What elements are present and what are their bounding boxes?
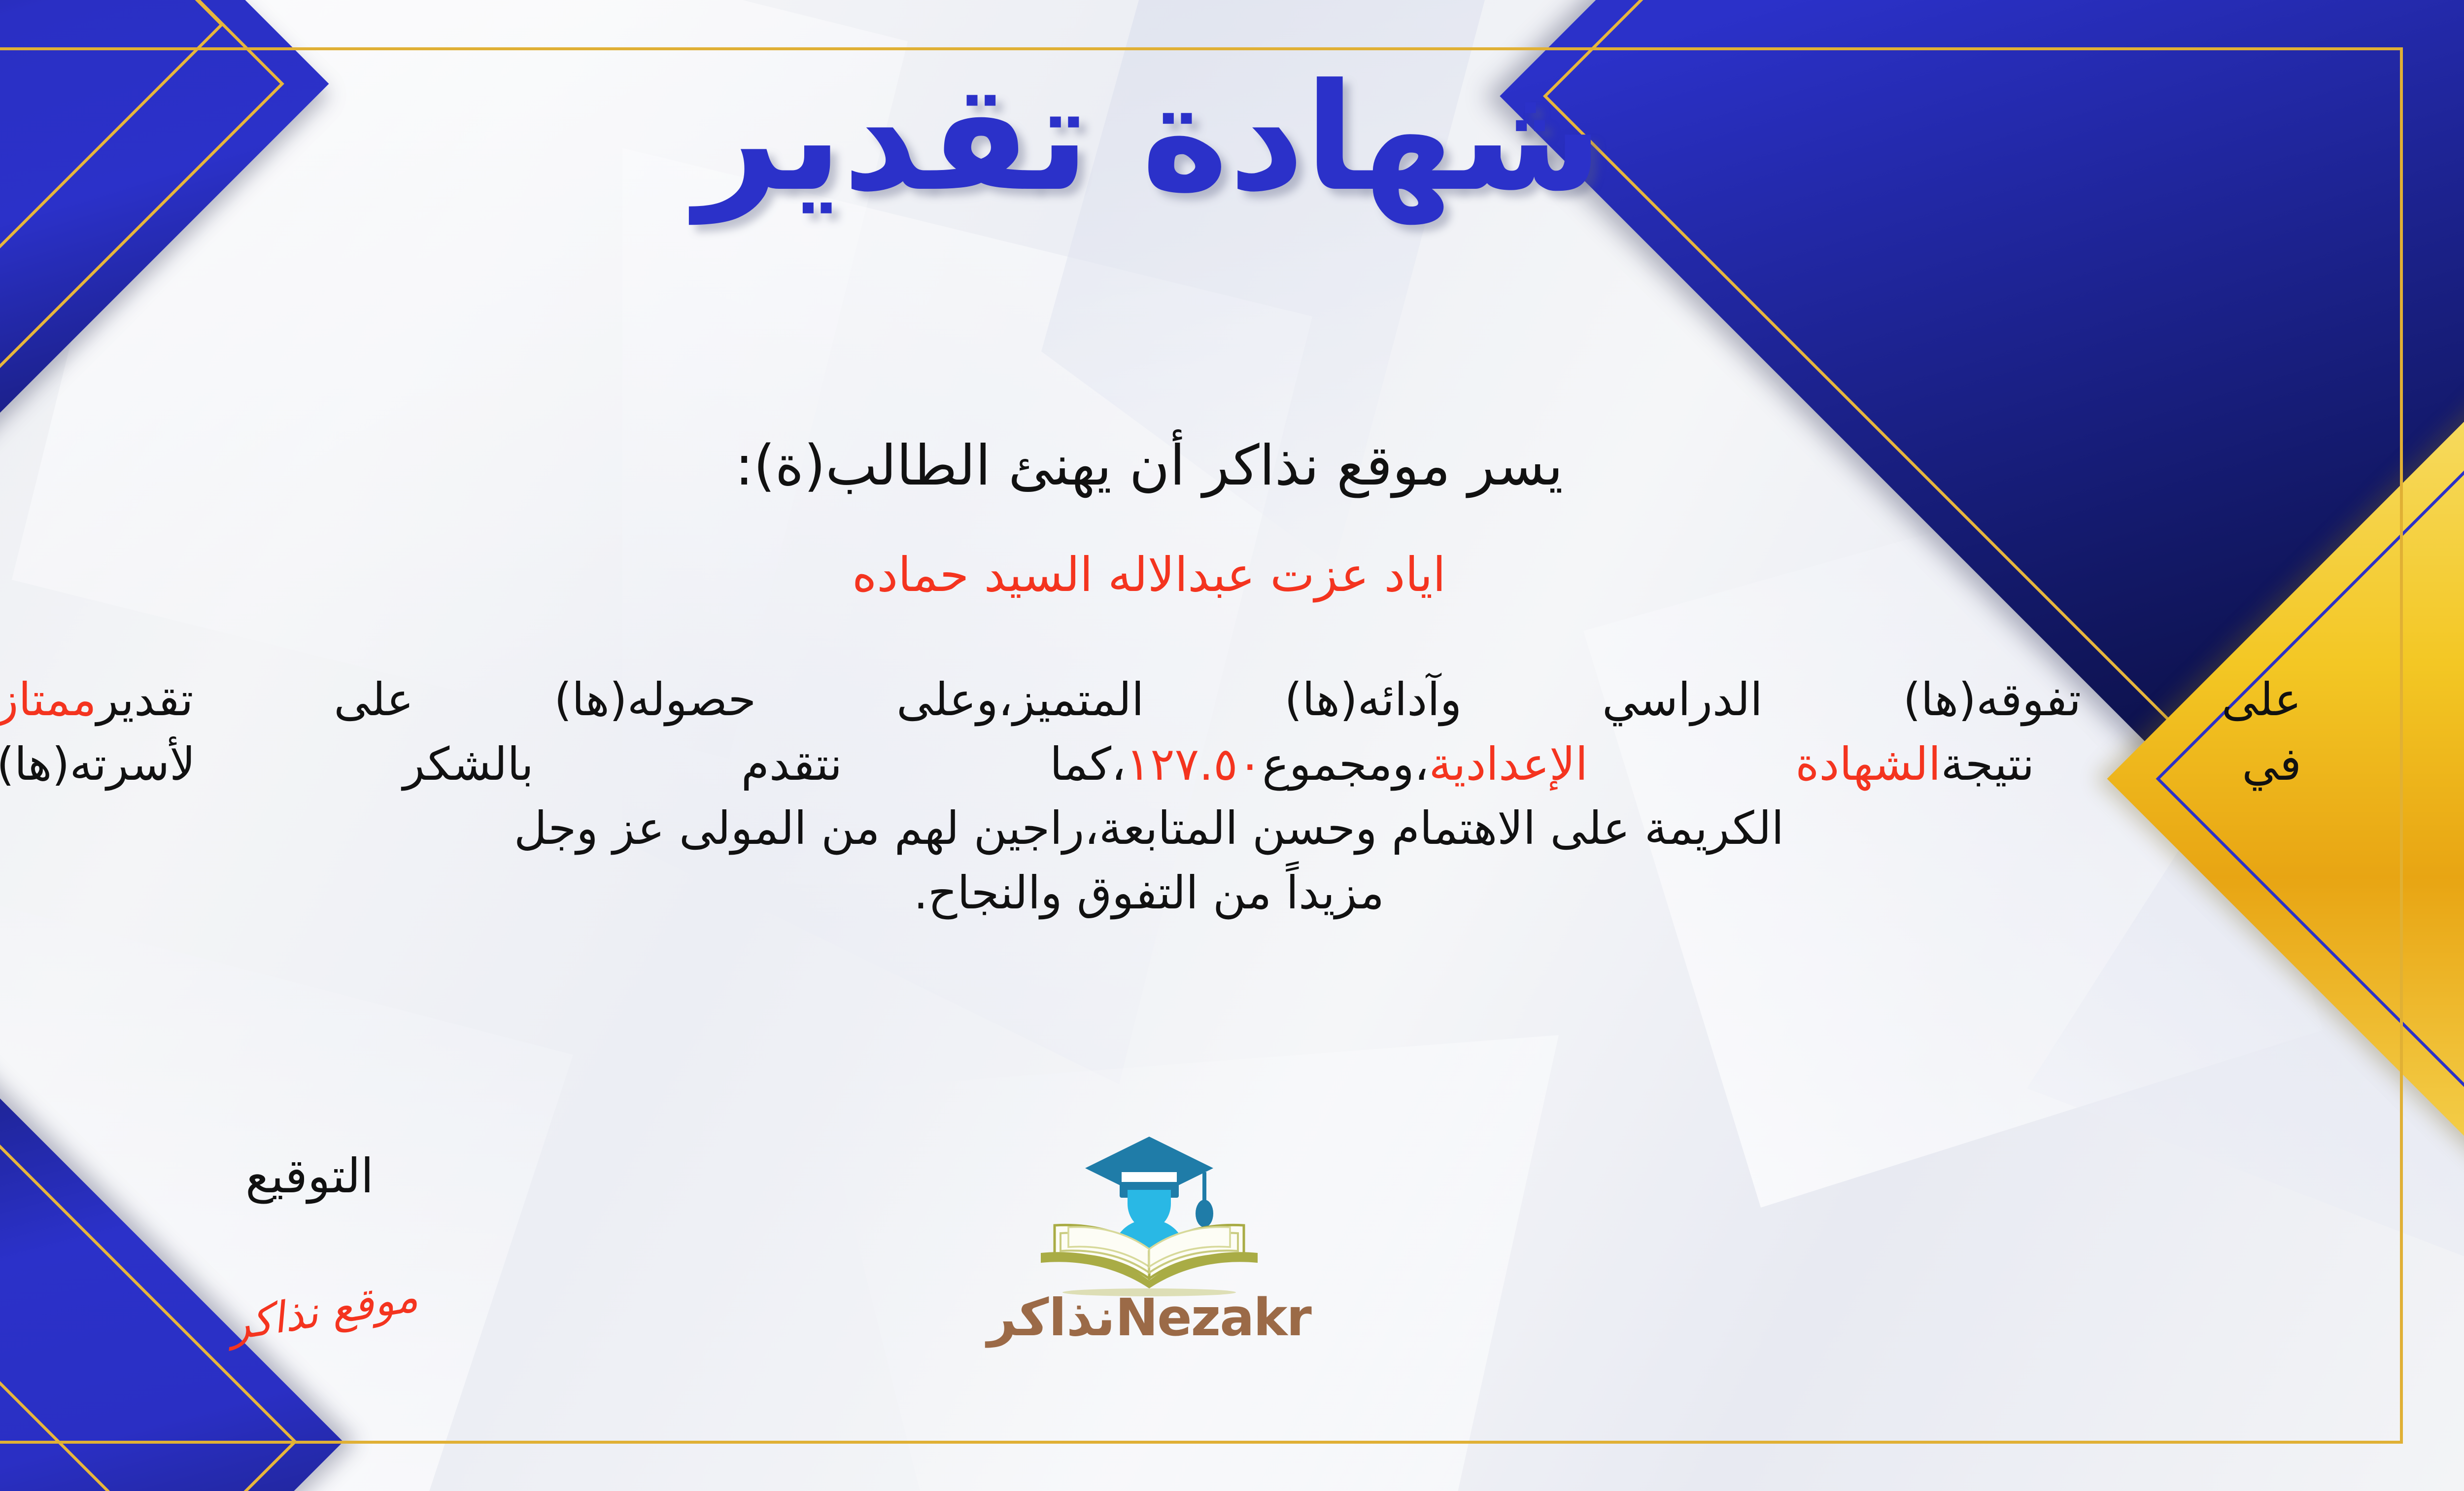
body-line-4: مزيداً من التفوق والنجاح. bbox=[0, 861, 2301, 926]
exam-name: الشهادة الإعدادية bbox=[1429, 738, 1941, 791]
signature-label: التوقيع bbox=[245, 1148, 374, 1204]
body-line-1-text: على تفوقه(ها) الدراسي وآدائه(ها) المتميز… bbox=[97, 673, 2301, 726]
score-value: ١٢٧.٥٠ bbox=[1126, 738, 1262, 791]
congratulation-line: يسر موقع نذاكر أن يهنئ الطالب(ة): bbox=[0, 434, 2464, 498]
signature-mark: موقع نذاكر bbox=[226, 1272, 421, 1350]
brand-logo-text: Nezakrنذاكر bbox=[962, 1287, 1336, 1348]
graduate-book-icon bbox=[1011, 1129, 1287, 1296]
certificate-content: شهادة تقدير يسر موقع نذاكر أن يهنئ الطال… bbox=[0, 0, 2464, 1491]
body-line-2-part1: في نتيجة bbox=[1941, 738, 2301, 791]
brand-logo: Nezakrنذاكر bbox=[962, 1129, 1336, 1348]
grade-value: ممتاز bbox=[0, 673, 97, 726]
body-line-2: في نتيجةالشهادة الإعدادية،ومجموع١٢٧.٥٠،ك… bbox=[0, 732, 2301, 797]
certificate-body-text: على تفوقه(ها) الدراسي وآدائه(ها) المتميز… bbox=[0, 668, 2301, 926]
student-name: اياد عزت عبدالاله السيد حماده bbox=[0, 547, 2464, 602]
body-line-3: الكريمة على الاهتمام وحسن المتابعة،راجين… bbox=[0, 797, 2301, 861]
body-line-2-part2: ،ومجموع bbox=[1262, 738, 1429, 791]
body-line-2-part3: ،كما نتقدم بالشكر لأسرته(ها) bbox=[0, 738, 1126, 791]
page-title: شهادة تقدير bbox=[0, 64, 2464, 212]
body-line-1: على تفوقه(ها) الدراسي وآدائه(ها) المتميز… bbox=[0, 668, 2301, 732]
certificate-page: شهادة تقدير يسر موقع نذاكر أن يهنئ الطال… bbox=[0, 0, 2464, 1491]
